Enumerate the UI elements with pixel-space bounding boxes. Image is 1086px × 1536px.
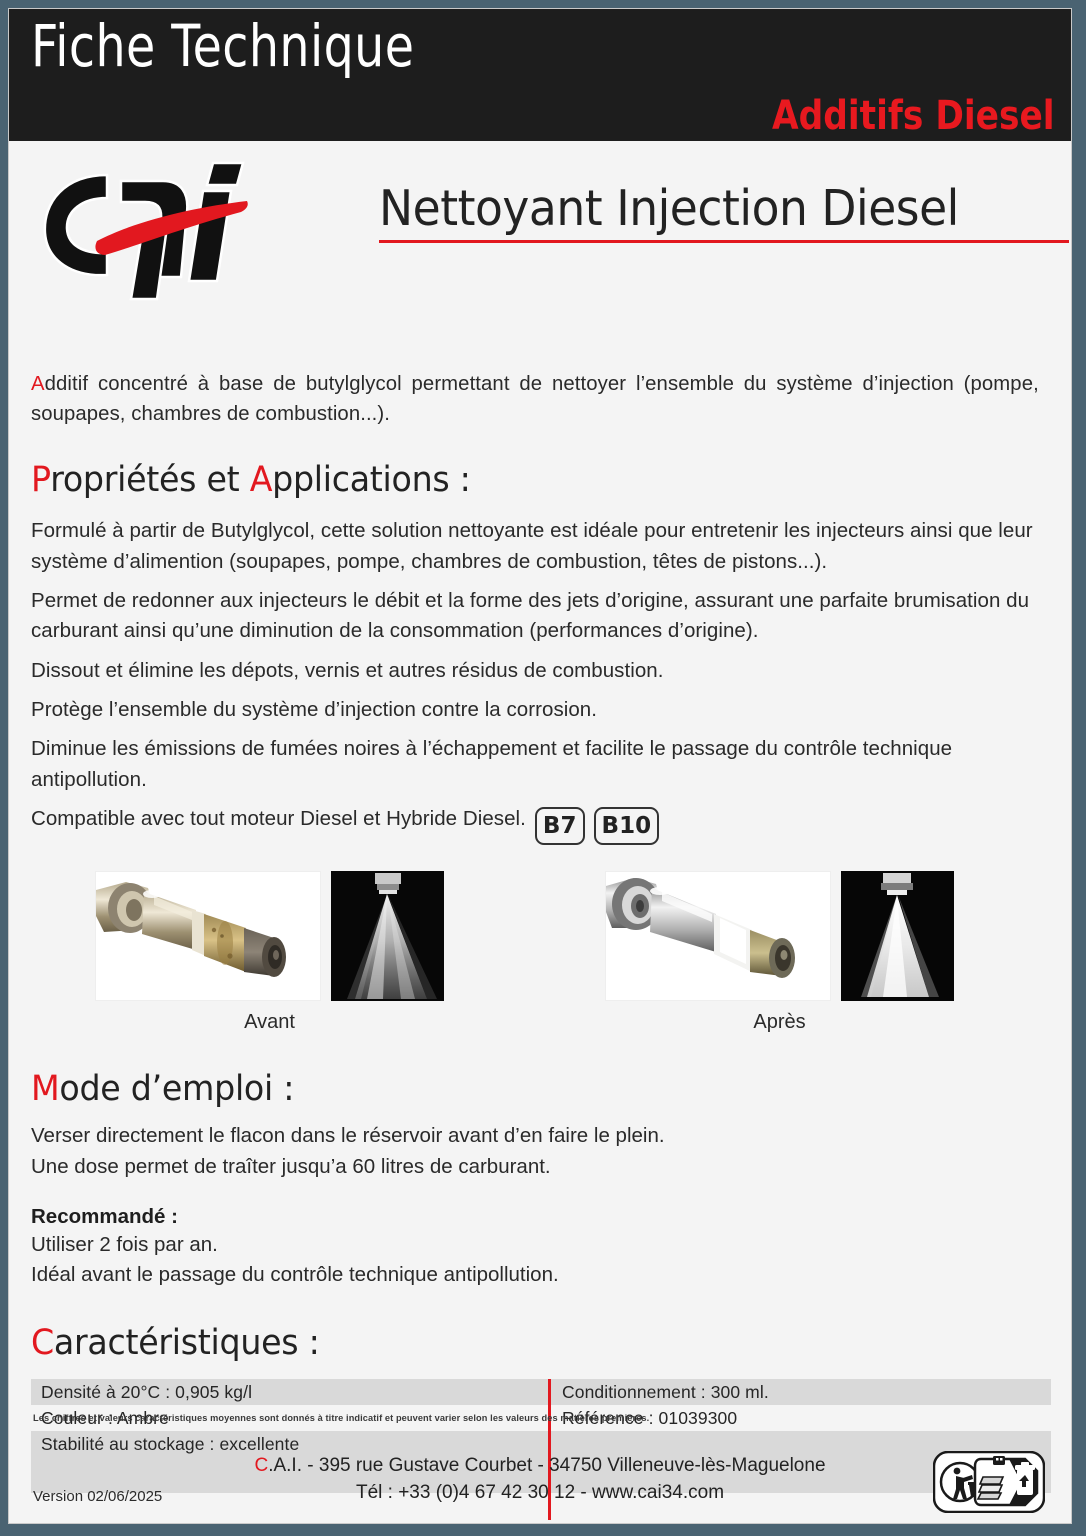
- clean-injector-photo: [605, 871, 831, 1001]
- after-images: [605, 871, 954, 1001]
- property-line: Formulé à partir de Butylglycol, cette s…: [31, 516, 1049, 577]
- dirty-injector-photo: [95, 871, 321, 1001]
- wide-spray-photo: [331, 871, 444, 1001]
- usage-heading-text: ode d’emploi :: [59, 1069, 294, 1109]
- footer-disclaimer: Les chiffres et valeurs caractéristiques…: [33, 1413, 649, 1424]
- before-after-comparison: Avant: [31, 871, 1049, 1043]
- properties-cap-p: P: [31, 460, 50, 500]
- header-category: Additifs Diesel: [772, 93, 1055, 139]
- footer-contact: C.A.I. - 395 rue Gustave Courbet - 34750…: [9, 1452, 1071, 1507]
- cai-logo: [35, 157, 275, 302]
- recommended-line: Idéal avant le passage du contrôle techn…: [31, 1260, 1049, 1291]
- usage-line: Verser directement le flacon dans le rés…: [31, 1121, 1049, 1152]
- badge-b10: B10: [594, 807, 660, 845]
- properties-heading-text-1: ropriétés et: [50, 460, 250, 500]
- properties-heading-text-2: pplications :: [272, 460, 470, 500]
- triman-recycling-icon: [933, 1451, 1045, 1513]
- usage-cap-m: M: [31, 1069, 59, 1109]
- datasheet-page: Fiche Technique Additifs Diesel: [8, 8, 1072, 1524]
- recommended-title: Recommandé :: [31, 1205, 1049, 1229]
- brand-band: Nettoyant Injection Diesel: [9, 141, 1071, 369]
- badge-b7: B7: [535, 807, 585, 845]
- before-images: [95, 871, 444, 1001]
- intro-paragraph: Additif concentré à base de butylglycol …: [31, 369, 1039, 428]
- recommended-line: Utiliser 2 fois par an.: [31, 1230, 1049, 1261]
- section-heading-characteristics: Caractéristiques :: [31, 1323, 998, 1363]
- comparison-after: Après: [605, 871, 954, 1034]
- footer-phone-web: Tél : +33 (0)4 67 42 30 12 - www.cai34.c…: [9, 1479, 1071, 1507]
- intro-dropcap: A: [31, 372, 45, 395]
- page-header: Fiche Technique Additifs Diesel: [9, 9, 1071, 141]
- product-title: Nettoyant Injection Diesel: [379, 183, 1004, 236]
- intro-text: dditif concentré à base de butylglycol p…: [31, 372, 1039, 425]
- comparison-before: Avant: [95, 871, 444, 1034]
- property-line: Permet de redonner aux injecteurs le déb…: [31, 586, 1049, 647]
- characteristics-cap-c: C: [31, 1323, 54, 1363]
- page-footer: Les chiffres et valeurs caractéristiques…: [9, 1399, 1071, 1523]
- compatibility-text: Compatible avec tout moteur Diesel et Hy…: [31, 807, 526, 830]
- properties-cap-a: A: [250, 460, 272, 500]
- section-heading-usage: Mode d’emploi :: [31, 1069, 998, 1109]
- fuel-badges: B7B10: [535, 807, 659, 845]
- company-cap-c: C: [254, 1455, 268, 1476]
- property-line: Dissout et élimine les dépots, vernis et…: [31, 656, 1049, 686]
- page-content: Additif concentré à base de butylglycol …: [9, 369, 1071, 1493]
- company-address-text: .A.I. - 395 rue Gustave Courbet - 34750 …: [268, 1455, 825, 1476]
- header-title: Fiche Technique: [31, 12, 414, 80]
- property-line: Diminue les émissions de fumées noires à…: [31, 734, 1049, 795]
- property-line-compatibility: Compatible avec tout moteur Diesel et Hy…: [31, 804, 1049, 845]
- cone-spray-photo: [841, 871, 954, 1001]
- product-title-underline: [379, 240, 1069, 243]
- section-heading-properties: Propriétés et Applications :: [31, 460, 998, 500]
- before-caption: Avant: [95, 1011, 444, 1034]
- characteristics-heading-text: aractéristiques :: [54, 1323, 320, 1363]
- after-caption: Après: [605, 1011, 954, 1034]
- footer-address: C.A.I. - 395 rue Gustave Courbet - 34750…: [9, 1452, 1071, 1480]
- product-title-block: Nettoyant Injection Diesel: [379, 183, 1051, 243]
- usage-line: Une dose permet de traîter jusqu’a 60 li…: [31, 1152, 1049, 1183]
- property-line: Protège l’ensemble du système d’injectio…: [31, 695, 1049, 725]
